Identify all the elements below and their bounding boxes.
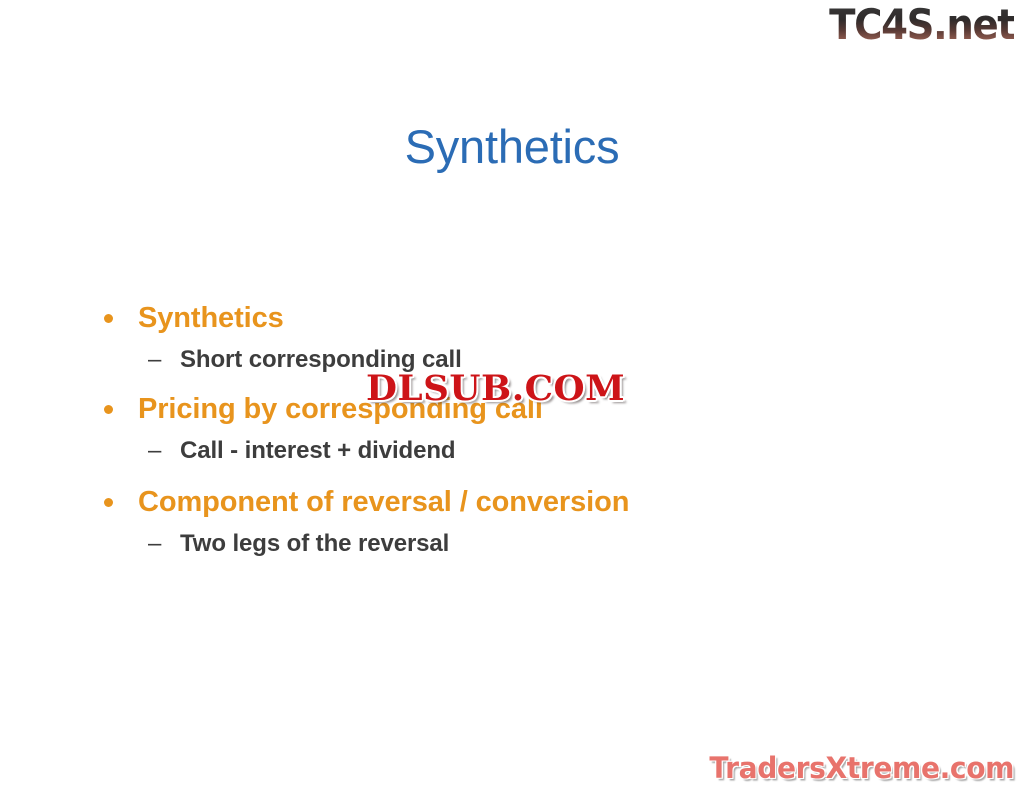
tc4s-brand-logo: TC4S.net xyxy=(829,2,1014,48)
bullet-level2-two-legs-of-the-reversal: – Two legs of the reversal xyxy=(96,524,916,564)
slide-body: Synthetics – Short corresponding call Pr… xyxy=(96,296,916,564)
bullet-level1-component-of-reversal-conversion: Component of reversal / conversion xyxy=(96,480,916,524)
bullet-dot-icon xyxy=(104,314,113,323)
tradersxtreme-watermark: TradersXtreme.com xyxy=(709,751,1014,785)
dash-marker-icon: – xyxy=(148,431,161,471)
bullet-level2-label: Two legs of the reversal xyxy=(180,530,449,557)
dash-marker-icon: – xyxy=(148,340,161,380)
bullet-level1-synthetics: Synthetics xyxy=(96,296,916,340)
presentation-slide: TC4S.net Synthetics Synthetics – Short c… xyxy=(0,0,1024,791)
bullet-level2-label: Call - interest + dividend xyxy=(180,437,455,464)
bullet-dot-icon xyxy=(104,498,113,507)
bullet-level1-label: Synthetics xyxy=(138,302,284,334)
spacer xyxy=(96,471,916,480)
dlsub-watermark: DLSUB.COM xyxy=(366,369,625,409)
bullet-group-3: Component of reversal / conversion – Two… xyxy=(96,480,916,564)
dash-marker-icon: – xyxy=(148,524,161,564)
slide-title: Synthetics xyxy=(0,119,1024,175)
bullet-level2-call-interest-dividend: – Call - interest + dividend xyxy=(96,431,916,471)
bullet-dot-icon xyxy=(104,405,113,414)
bullet-level1-label: Component of reversal / conversion xyxy=(138,486,629,518)
